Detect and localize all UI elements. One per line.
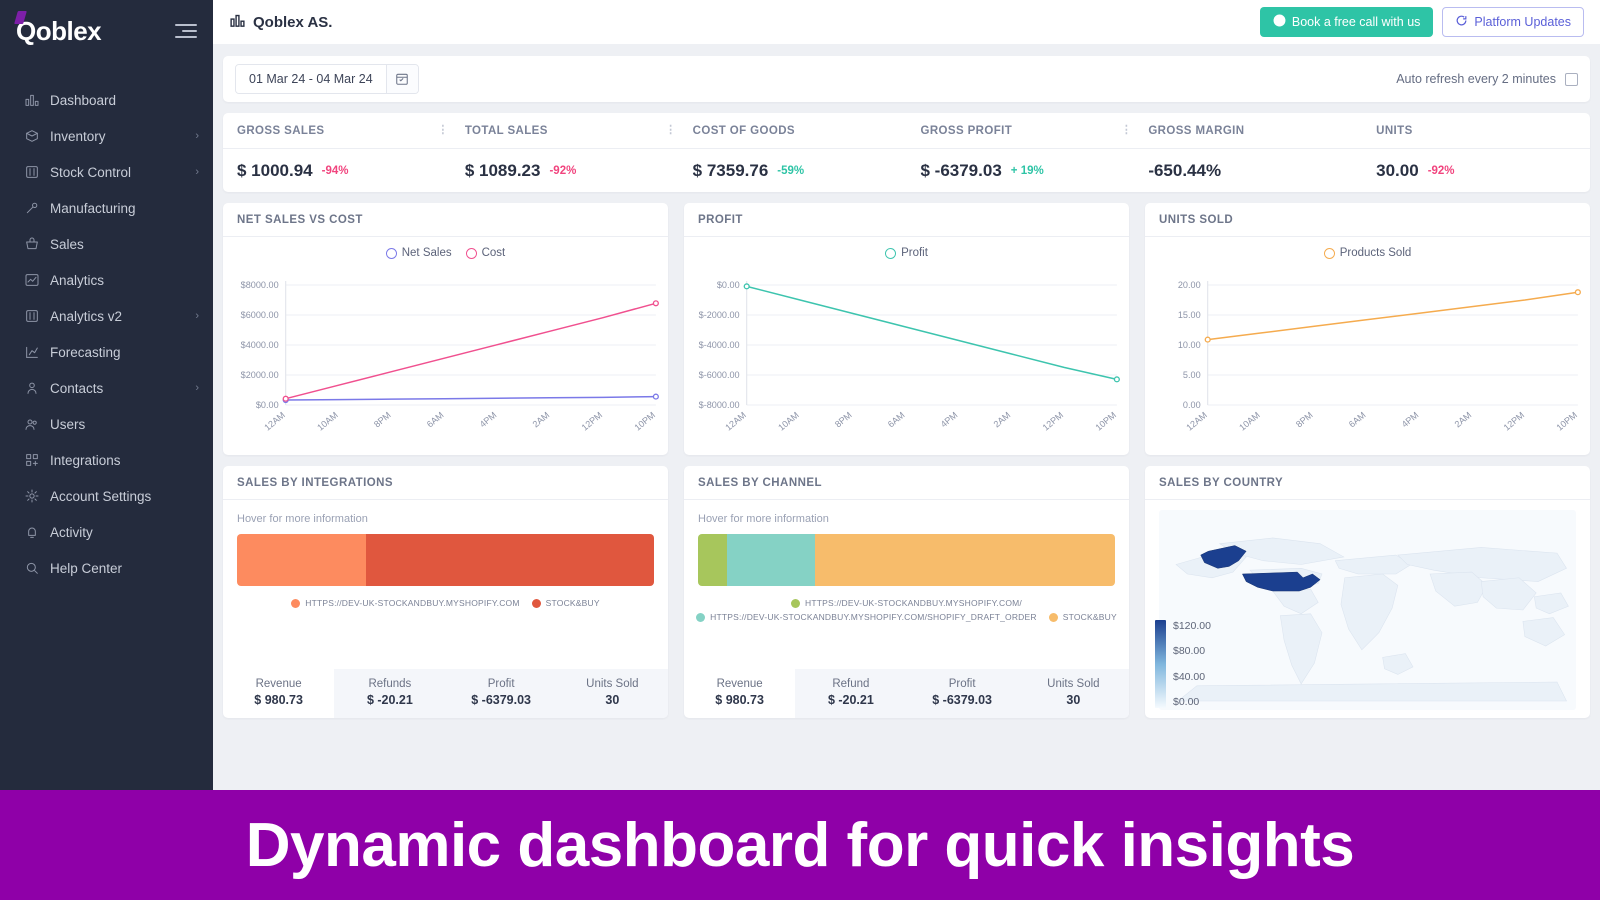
stat-cell: Refund$ -20.21	[795, 669, 906, 718]
gear-icon	[24, 488, 50, 504]
legend-dot	[532, 599, 541, 608]
legend-label: STOCK&BUY	[546, 598, 600, 608]
sidebar-item-analytics[interactable]: Analytics	[0, 262, 213, 298]
sidebar-item-inventory[interactable]: Inventory›	[0, 118, 213, 154]
stat-value: $ -20.21	[795, 693, 906, 707]
stat-cell: Revenue$ 980.73	[223, 669, 334, 718]
svg-text:10PM: 10PM	[1093, 410, 1118, 433]
contacts-icon	[24, 380, 50, 396]
kpi-card: GROSS PROFIT⋮$ -6379.03+ 19%	[906, 113, 1134, 192]
sidebar-item-label: Forecasting	[50, 345, 199, 360]
svg-text:$-8000.00: $-8000.00	[699, 400, 740, 410]
card-title: NET SALES VS COST	[223, 203, 668, 237]
sales-by-country-body: $120.00$80.00$40.00$0.00	[1145, 500, 1590, 718]
sidebar-toggle-hamburger-icon[interactable]	[175, 24, 197, 38]
svg-text:4PM: 4PM	[1400, 410, 1421, 430]
kpi-card: GROSS MARGIN-650.44%	[1134, 113, 1362, 192]
wrench-icon	[24, 200, 50, 216]
svg-text:0.00: 0.00	[1183, 400, 1201, 410]
stat-label: Revenue	[223, 678, 334, 690]
svg-text:$8000.00: $8000.00	[241, 280, 279, 290]
bar-segment[interactable]	[237, 534, 366, 586]
kpi-header: UNITS	[1362, 113, 1590, 149]
page-title-text: Qoblex AS.	[253, 14, 332, 31]
kpi-label: COST OF GOODS	[693, 125, 891, 137]
main-content: 01 Mar 24 - 04 Mar 24 Auto refresh every…	[213, 44, 1600, 790]
svg-text:8PM: 8PM	[833, 410, 854, 430]
legend-dot	[696, 613, 705, 622]
sliders-icon	[24, 164, 50, 180]
stat-cell: Profit$ -6379.03	[446, 669, 557, 718]
auto-refresh-control[interactable]: Auto refresh every 2 minutes	[1396, 72, 1578, 86]
sidebar-item-label: Analytics v2	[50, 309, 195, 324]
color-scale-bar	[1155, 620, 1166, 708]
chart-bar-icon	[24, 92, 50, 108]
stacked-bar[interactable]	[237, 534, 654, 586]
line-plot: $0.00$-2000.00$-4000.00$-6000.00$-8000.0…	[684, 237, 1129, 455]
kpi-body: $ 1000.94-94%	[223, 149, 451, 192]
basket-icon	[24, 236, 50, 252]
book-call-button[interactable]: Book a free call with us	[1260, 7, 1434, 37]
stat-cell: Refunds$ -20.21	[334, 669, 445, 718]
card-title: SALES BY INTEGRATIONS	[223, 466, 668, 500]
legend-label: HTTPS://DEV-UK-STOCKANDBUY.MYSHOPIFY.COM	[305, 598, 519, 608]
svg-text:10PM: 10PM	[1554, 410, 1579, 433]
logo-text: Qoblex	[16, 16, 101, 47]
sales-by-integrations-body: Hover for more information HTTPS://DEV-U…	[223, 500, 668, 718]
kpi-delta: + 19%	[1011, 165, 1044, 177]
promo-banner: Dynamic dashboard for quick insights	[0, 790, 1600, 900]
platform-updates-label: Platform Updates	[1474, 15, 1571, 29]
line-plot: 0.005.0010.0015.0020.0012AM10AM8PM6AM4PM…	[1145, 237, 1590, 455]
kpi-header: GROSS SALES⋮	[223, 113, 451, 149]
date-range-picker[interactable]: 01 Mar 24 - 04 Mar 24	[235, 64, 419, 94]
sidebar-item-integrations[interactable]: Integrations	[0, 442, 213, 478]
svg-text:10AM: 10AM	[1237, 410, 1262, 433]
kpi-label: UNITS	[1376, 125, 1574, 137]
svg-text:10AM: 10AM	[315, 410, 340, 433]
stat-value: $ 980.73	[223, 693, 334, 707]
stat-label: Units Sold	[1018, 678, 1129, 690]
svg-text:2AM: 2AM	[992, 410, 1013, 430]
sidebar-item-label: Stock Control	[50, 165, 195, 180]
svg-text:8PM: 8PM	[1294, 410, 1315, 430]
bar-segment[interactable]	[815, 534, 1115, 586]
stat-value: $ -20.21	[334, 693, 445, 707]
logo[interactable]: Qoblex	[16, 16, 175, 47]
kpi-header: COST OF GOODS	[679, 113, 907, 149]
stat-label: Units Sold	[557, 678, 668, 690]
svg-text:15.00: 15.00	[1178, 310, 1201, 320]
legend-item[interactable]: HTTPS://DEV-UK-STOCKANDBUY.MYSHOPIFY.COM…	[696, 612, 1037, 622]
legend-item[interactable]: STOCK&BUY	[532, 598, 600, 608]
bell-icon	[24, 524, 50, 540]
kpi-delta: -92%	[549, 165, 576, 177]
stat-label: Refund	[795, 678, 906, 690]
kpi-body: 30.00-92%	[1362, 149, 1590, 192]
svg-text:6AM: 6AM	[1347, 410, 1368, 430]
sidebar-item-label: Help Center	[50, 561, 199, 576]
sidebar-item-contacts[interactable]: Contacts›	[0, 370, 213, 406]
auto-refresh-checkbox[interactable]	[1565, 73, 1578, 86]
stat-label: Revenue	[684, 678, 795, 690]
sales-by-channel-body: Hover for more information HTTPS://DEV-U…	[684, 500, 1129, 718]
legend-label: HTTPS://DEV-UK-STOCKANDBUY.MYSHOPIFY.COM…	[710, 612, 1037, 622]
stat-value: 30	[557, 693, 668, 707]
box-icon	[24, 128, 50, 144]
svg-text:12PM: 12PM	[1041, 410, 1066, 433]
stat-cell: Revenue$ 980.73	[684, 669, 795, 718]
stacked-bar[interactable]	[698, 534, 1115, 586]
dashboard-page: Qoblex DashboardInventory›Stock Control›…	[0, 0, 1600, 900]
sidebar-item-forecasting[interactable]: Forecasting	[0, 334, 213, 370]
stat-value: $ -6379.03	[446, 693, 557, 707]
page-title: Qoblex AS.	[229, 12, 332, 33]
legend-item[interactable]: HTTPS://DEV-UK-STOCKANDBUY.MYSHOPIFY.COM	[291, 598, 519, 608]
kpi-menu-icon[interactable]: ⋮	[435, 126, 451, 135]
chevron-right-icon: ›	[195, 311, 199, 322]
sidebar: Qoblex DashboardInventory›Stock Control›…	[0, 0, 213, 790]
sidebar-item-label: Dashboard	[50, 93, 199, 108]
legend-tick: $40.00	[1173, 671, 1211, 683]
users-icon	[24, 416, 50, 432]
sidebar-item-stock-control[interactable]: Stock Control›	[0, 154, 213, 190]
kpi-label: TOTAL SALES	[465, 125, 663, 137]
legend-ticks: $120.00$80.00$40.00$0.00	[1173, 620, 1211, 708]
chevron-right-icon: ›	[195, 383, 199, 394]
map-svg	[1159, 510, 1576, 710]
card-net-sales-vs-cost: NET SALES VS COST Net SalesCost $0.00$20…	[223, 203, 668, 455]
stat-cell: Profit$ -6379.03	[907, 669, 1018, 718]
svg-text:$-4000.00: $-4000.00	[699, 340, 740, 350]
sidebar-item-label: Activity	[50, 525, 199, 540]
date-range-value[interactable]: 01 Mar 24 - 04 Mar 24	[236, 65, 386, 93]
legend-tick: $0.00	[1173, 696, 1211, 708]
chart-bar-icon	[229, 12, 246, 33]
svg-text:4PM: 4PM	[478, 410, 499, 430]
sidebar-item-label: Users	[50, 417, 199, 432]
svg-text:12AM: 12AM	[1184, 410, 1209, 433]
svg-text:12PM: 12PM	[1502, 410, 1527, 433]
auto-refresh-label: Auto refresh every 2 minutes	[1396, 72, 1556, 86]
kpi-card: TOTAL SALES⋮$ 1089.23-92%	[451, 113, 679, 192]
card-units-sold: UNITS SOLD Products Sold 0.005.0010.0015…	[1145, 203, 1590, 455]
card-title: UNITS SOLD	[1145, 203, 1590, 237]
line-chart-icon	[24, 272, 50, 288]
chevron-right-icon: ›	[195, 131, 199, 142]
cards-grid: NET SALES VS COST Net SalesCost $0.00$20…	[223, 203, 1590, 718]
kpi-menu-icon[interactable]: ⋮	[663, 126, 679, 135]
top-bar-actions: Book a free call with us Platform Update…	[1260, 7, 1584, 37]
platform-updates-button[interactable]: Platform Updates	[1442, 7, 1584, 37]
legend-dot	[791, 599, 800, 608]
svg-text:12AM: 12AM	[723, 410, 748, 433]
sidebar-item-help-center[interactable]: Help Center	[0, 550, 213, 586]
kpi-card: COST OF GOODS$ 7359.76-59%	[679, 113, 907, 192]
kpi-value: -650.44%	[1148, 161, 1221, 181]
svg-text:10AM: 10AM	[776, 410, 801, 433]
svg-text:$-2000.00: $-2000.00	[699, 310, 740, 320]
svg-text:4PM: 4PM	[939, 410, 960, 430]
sidebar-item-analytics-v2[interactable]: Analytics v2›	[0, 298, 213, 334]
svg-text:$4000.00: $4000.00	[241, 340, 279, 350]
trend-chart-icon	[24, 344, 50, 360]
kpi-value: $ 1089.23	[465, 161, 541, 181]
sidebar-brand: Qoblex	[0, 0, 213, 62]
legend-dot	[1049, 613, 1058, 622]
stat-label: Profit	[907, 678, 1018, 690]
kpi-header: GROSS MARGIN	[1134, 113, 1362, 149]
svg-text:$6000.00: $6000.00	[241, 310, 279, 320]
sidebar-nav: DashboardInventory›Stock Control›Manufac…	[0, 82, 213, 586]
sidebar-item-label: Sales	[50, 237, 199, 252]
bar-segment[interactable]	[698, 534, 727, 586]
svg-text:$2000.00: $2000.00	[241, 370, 279, 380]
sidebar-item-dashboard[interactable]: Dashboard	[0, 82, 213, 118]
sidebar-item-activity[interactable]: Activity	[0, 514, 213, 550]
svg-text:$0.00: $0.00	[256, 400, 279, 410]
sidebar-item-account-settings[interactable]: Account Settings	[0, 478, 213, 514]
svg-text:12AM: 12AM	[262, 410, 287, 433]
kpi-delta: -94%	[322, 165, 349, 177]
svg-text:10.00: 10.00	[1178, 340, 1201, 350]
stat-value: 30	[1018, 693, 1129, 707]
svg-text:$0.00: $0.00	[717, 280, 740, 290]
top-bar: Qoblex AS. Book a free call with us Plat…	[213, 0, 1600, 44]
legend-label: HTTPS://DEV-UK-STOCKANDBUY.MYSHOPIFY.COM…	[805, 598, 1022, 608]
kpi-header: GROSS PROFIT⋮	[906, 113, 1134, 149]
stat-label: Profit	[446, 678, 557, 690]
kpi-delta: -59%	[777, 165, 804, 177]
hover-hint: Hover for more information	[223, 500, 668, 525]
chart-net-sales-vs-cost[interactable]: Net SalesCost $0.00$2000.00$4000.00$6000…	[223, 237, 668, 455]
sliders-icon	[24, 308, 50, 324]
card-sales-by-integrations: SALES BY INTEGRATIONS Hover for more inf…	[223, 466, 668, 718]
svg-text:20.00: 20.00	[1178, 280, 1201, 290]
book-call-label: Book a free call with us	[1292, 15, 1421, 29]
stat-value: $ 980.73	[684, 693, 795, 707]
kpi-value: 30.00	[1376, 161, 1419, 181]
kpi-value: $ 7359.76	[693, 161, 769, 181]
stat-cell: Units Sold30	[557, 669, 668, 718]
kpi-menu-icon[interactable]: ⋮	[1118, 126, 1134, 135]
calendar-icon[interactable]	[386, 65, 418, 93]
kpi-label: GROSS SALES	[237, 125, 435, 137]
line-plot: $0.00$2000.00$4000.00$6000.00$8000.0012A…	[223, 237, 668, 455]
sidebar-item-users[interactable]: Users	[0, 406, 213, 442]
sidebar-item-label: Analytics	[50, 273, 199, 288]
sidebar-item-label: Contacts	[50, 381, 195, 396]
filter-bar: 01 Mar 24 - 04 Mar 24 Auto refresh every…	[223, 56, 1590, 102]
phone-icon	[1273, 14, 1286, 30]
svg-text:2AM: 2AM	[1453, 410, 1474, 430]
sidebar-item-manufacturing[interactable]: Manufacturing	[0, 190, 213, 226]
kpi-delta: -92%	[1428, 165, 1455, 177]
legend-tick: $120.00	[1173, 620, 1211, 632]
refresh-icon	[1455, 14, 1468, 30]
map-color-legend: $120.00$80.00$40.00$0.00	[1155, 620, 1211, 708]
bar-legend: HTTPS://DEV-UK-STOCKANDBUY.MYSHOPIFY.COM…	[223, 598, 668, 608]
search-icon	[24, 560, 50, 576]
sidebar-item-label: Integrations	[50, 453, 199, 468]
bar-legend: HTTPS://DEV-UK-STOCKANDBUY.MYSHOPIFY.COM…	[684, 598, 1129, 622]
legend-item[interactable]: STOCK&BUY	[1049, 612, 1117, 622]
svg-text:10PM: 10PM	[632, 410, 657, 433]
sidebar-item-label: Manufacturing	[50, 201, 199, 216]
world-choropleth-map[interactable]	[1159, 510, 1576, 710]
legend-label: STOCK&BUY	[1063, 612, 1117, 622]
kpi-strip: GROSS SALES⋮$ 1000.94-94%TOTAL SALES⋮$ 1…	[223, 113, 1590, 192]
stat-cell: Units Sold30	[1018, 669, 1129, 718]
promo-banner-text: Dynamic dashboard for quick insights	[246, 810, 1355, 881]
stats-row: Revenue$ 980.73Refunds$ -20.21Profit$ -6…	[223, 669, 668, 718]
svg-text:2AM: 2AM	[531, 410, 552, 430]
kpi-header: TOTAL SALES⋮	[451, 113, 679, 149]
svg-text:6AM: 6AM	[425, 410, 446, 430]
legend-dot	[291, 599, 300, 608]
kpi-body: $ 7359.76-59%	[679, 149, 907, 192]
bar-segment[interactable]	[366, 534, 654, 586]
kpi-card: UNITS30.00-92%	[1362, 113, 1590, 192]
card-title: PROFIT	[684, 203, 1129, 237]
kpi-card: GROSS SALES⋮$ 1000.94-94%	[223, 113, 451, 192]
svg-text:12PM: 12PM	[580, 410, 605, 433]
sidebar-item-sales[interactable]: Sales	[0, 226, 213, 262]
chevron-right-icon: ›	[195, 167, 199, 178]
bar-segment[interactable]	[727, 534, 815, 586]
kpi-label: GROSS MARGIN	[1148, 125, 1346, 137]
card-title: SALES BY COUNTRY	[1145, 466, 1590, 500]
legend-item[interactable]: HTTPS://DEV-UK-STOCKANDBUY.MYSHOPIFY.COM…	[791, 598, 1022, 608]
card-sales-by-country: SALES BY COUNTRY	[1145, 466, 1590, 718]
sidebar-item-label: Account Settings	[50, 489, 199, 504]
kpi-value: $ 1000.94	[237, 161, 313, 181]
card-title: SALES BY CHANNEL	[684, 466, 1129, 500]
svg-text:5.00: 5.00	[1183, 370, 1201, 380]
kpi-body: $ -6379.03+ 19%	[906, 149, 1134, 192]
chart-units-sold[interactable]: Products Sold 0.005.0010.0015.0020.0012A…	[1145, 237, 1590, 455]
stat-label: Refunds	[334, 678, 445, 690]
card-sales-by-channel: SALES BY CHANNEL Hover for more informat…	[684, 466, 1129, 718]
hover-hint: Hover for more information	[684, 500, 1129, 525]
svg-text:6AM: 6AM	[886, 410, 907, 430]
grid-plus-icon	[24, 452, 50, 468]
card-profit: PROFIT Profit $0.00$-2000.00$-4000.00$-6…	[684, 203, 1129, 455]
kpi-body: $ 1089.23-92%	[451, 149, 679, 192]
kpi-body: -650.44%	[1134, 149, 1362, 192]
svg-text:$-6000.00: $-6000.00	[699, 370, 740, 380]
chart-profit[interactable]: Profit $0.00$-2000.00$-4000.00$-6000.00$…	[684, 237, 1129, 455]
sidebar-item-label: Inventory	[50, 129, 195, 144]
kpi-label: GROSS PROFIT	[920, 125, 1118, 137]
stat-value: $ -6379.03	[907, 693, 1018, 707]
legend-tick: $80.00	[1173, 645, 1211, 657]
svg-text:8PM: 8PM	[372, 410, 393, 430]
stats-row: Revenue$ 980.73Refund$ -20.21Profit$ -63…	[684, 669, 1129, 718]
kpi-value: $ -6379.03	[920, 161, 1001, 181]
